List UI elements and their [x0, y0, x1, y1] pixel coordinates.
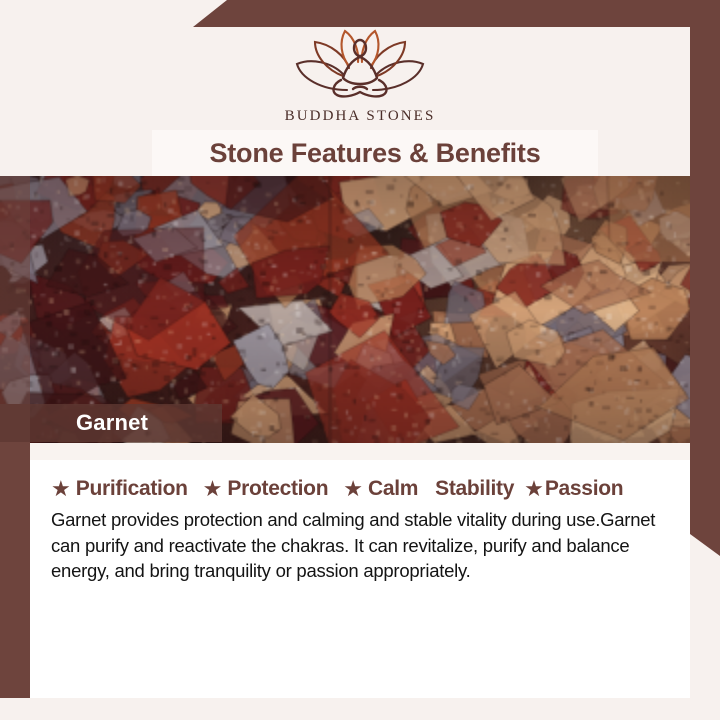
brand-name: BUDDHA STONES — [0, 108, 720, 125]
benefit-item-calm: ★Calm — [343, 477, 418, 501]
description-text: Garnet provides protection and calming a… — [51, 507, 669, 584]
benefit-label: Protection — [227, 477, 328, 501]
page-title: Stone Features & Benefits — [152, 130, 598, 176]
frame-right-bar — [690, 0, 720, 556]
benefit-label: Calm — [368, 477, 418, 501]
footer-strip — [0, 698, 720, 720]
brand-logo: BUDDHA STONES — [0, 24, 720, 125]
frame-top-right-bar — [193, 0, 720, 27]
star-icon: ★ — [524, 478, 544, 500]
benefit-item-purification: ★Purification — [51, 477, 188, 501]
frame-left-bar — [0, 404, 30, 720]
benefit-label: Passion — [545, 477, 623, 501]
benefit-item-passion: ★Passion — [524, 477, 623, 501]
stone-name-label: Garnet — [0, 404, 222, 442]
benefit-label: Stability — [435, 477, 514, 501]
title-band: Stone Features & Benefits — [152, 130, 598, 176]
stone-photo — [0, 176, 720, 443]
content-top-strip — [30, 443, 690, 460]
benefits-row: ★Purification★Protection★CalmStability★P… — [30, 460, 690, 501]
content-panel: ★Purification★Protection★CalmStability★P… — [30, 460, 690, 698]
frame-left-bar-upper — [0, 176, 30, 406]
benefit-label: Purification — [76, 477, 188, 501]
benefit-item-protection: ★Protection — [203, 477, 329, 501]
star-icon: ★ — [51, 478, 71, 500]
lotus-meditation-icon — [285, 24, 435, 106]
benefit-item-stability: Stability — [435, 477, 514, 501]
infographic-card: BUDDHA STONES Stone Features & Benefits … — [0, 0, 720, 720]
stone-name-tag: Garnet — [0, 404, 222, 442]
star-icon: ★ — [203, 478, 223, 500]
star-icon: ★ — [343, 478, 363, 500]
